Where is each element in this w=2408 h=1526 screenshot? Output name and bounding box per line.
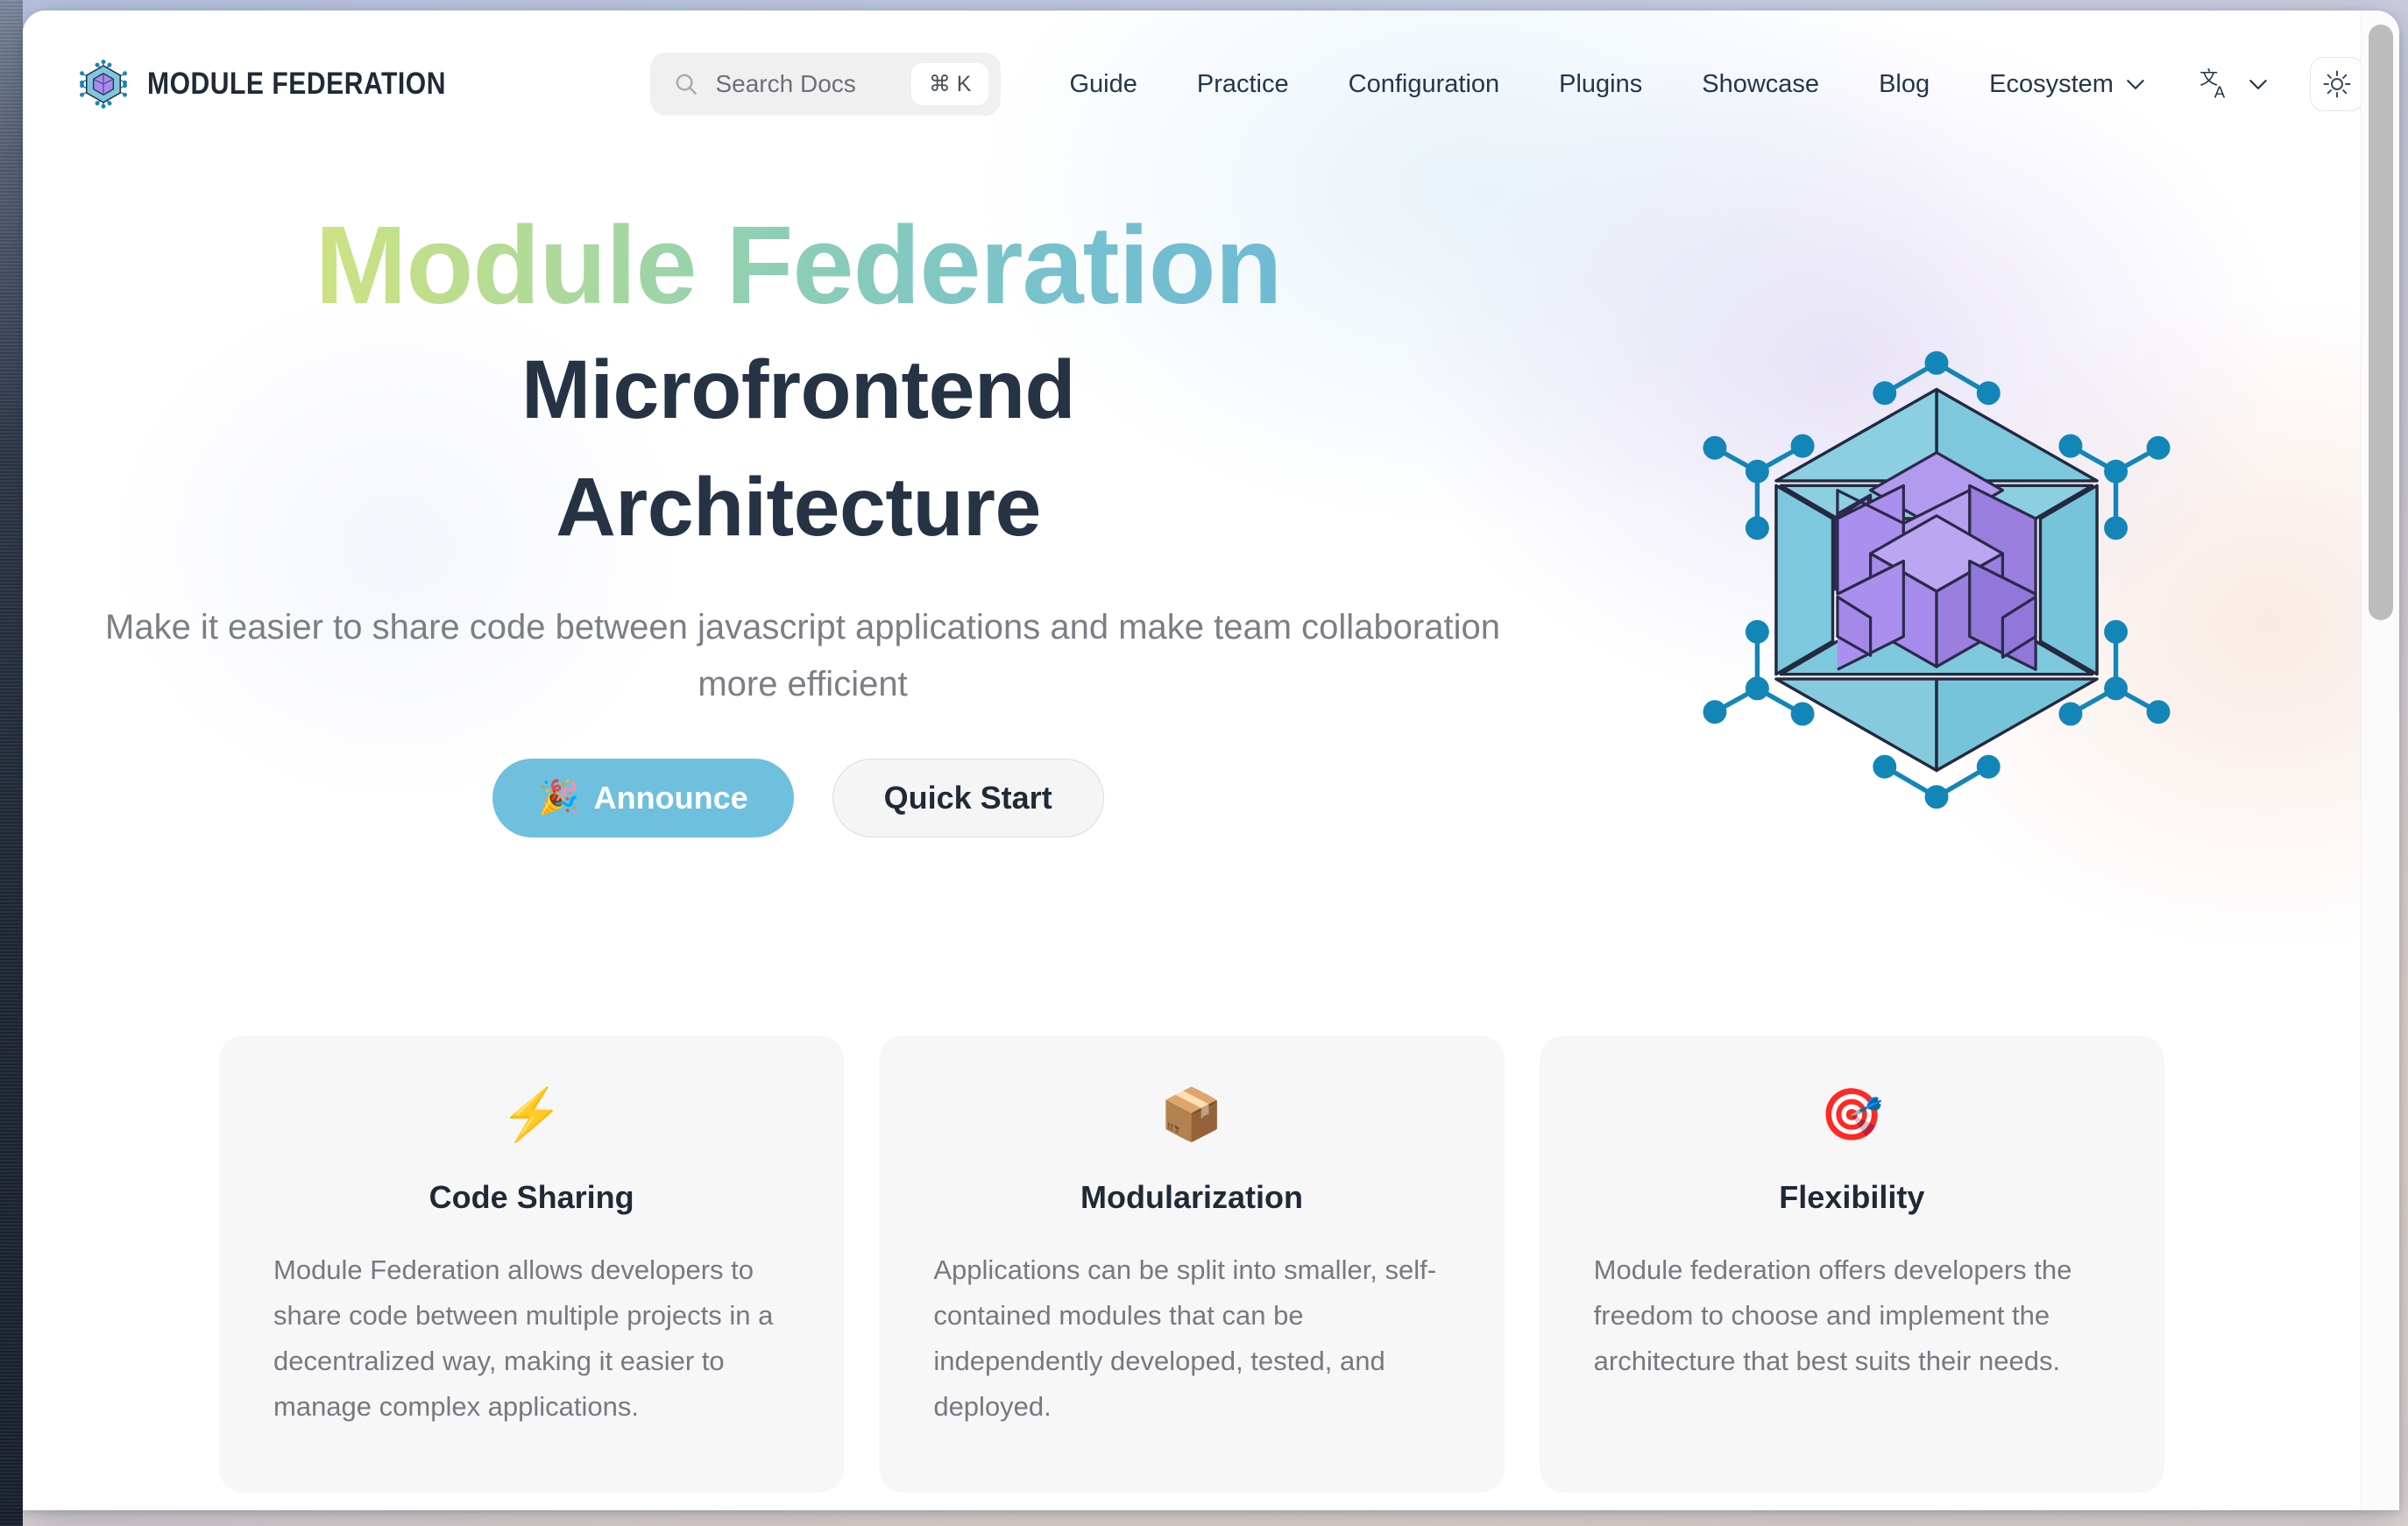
hero-copy: Module Federation Microfrontend Architec… [23, 203, 1512, 837]
brand-logo-link[interactable]: MODULE FEDERATION [79, 60, 494, 109]
search-input[interactable]: Search Docs ⌘ K [650, 53, 1001, 116]
chevron-down-icon [2126, 79, 2145, 90]
search-icon [673, 71, 699, 97]
nav-item-configuration[interactable]: Configuration [1319, 70, 1530, 99]
feature-card-code-sharing[interactable]: ⚡ Code Sharing Module Federation allows … [219, 1035, 844, 1493]
hero-description: Make it easier to share code between jav… [84, 599, 1521, 713]
nav-links: Guide Practice Configuration Plugins Sho… [1039, 70, 2174, 99]
nav-item-blog[interactable]: Blog [1849, 70, 1959, 99]
hero-title: Module Federation [84, 203, 1512, 327]
lightning-bolt-icon: ⚡ [273, 1090, 790, 1141]
nav-item-practice[interactable]: Practice [1167, 70, 1319, 99]
brand-name: MODULE FEDERATION [147, 67, 446, 102]
language-switcher[interactable]: 文 A [2175, 65, 2291, 103]
svg-text:A: A [2214, 82, 2226, 101]
browser-window: MODULE FEDERATION Search Docs ⌘ K Guide … [23, 11, 2399, 1510]
translate-icon: 文 A [2198, 65, 2236, 103]
feature-cards: ⚡ Code Sharing Module Federation allows … [23, 999, 2361, 1493]
party-popper-icon: 🎉 [538, 779, 579, 817]
page-canvas: MODULE FEDERATION Search Docs ⌘ K Guide … [23, 11, 2361, 1510]
search-placeholder: Search Docs [715, 70, 910, 98]
chevron-down-icon [2249, 79, 2268, 90]
hero-section: Module Federation Microfrontend Architec… [23, 158, 2361, 999]
feature-description: Applications can be split into smaller, … [933, 1247, 1449, 1430]
feature-description: Module federation offers developers the … [1594, 1247, 2110, 1384]
hero-actions: 🎉 Announce Quick Start [84, 759, 1512, 837]
hero-subtitle-line-2: Architecture [84, 455, 1512, 562]
nav-item-showcase[interactable]: Showcase [1672, 70, 1849, 99]
nav-item-guide[interactable]: Guide [1039, 70, 1166, 99]
theme-toggle-button[interactable] [2310, 57, 2361, 111]
desktop-background-strip [0, 0, 23, 1526]
feature-title: Modularization [933, 1179, 1449, 1216]
feature-title: Code Sharing [273, 1179, 790, 1216]
scrollbar-thumb[interactable] [2369, 25, 2393, 620]
quick-start-button[interactable]: Quick Start [832, 759, 1104, 837]
nav-item-ecosystem-label: Ecosystem [1989, 70, 2114, 99]
hero-subtitle-line-1: Microfrontend [84, 337, 1512, 444]
target-dart-icon: 🎯 [1594, 1090, 2110, 1141]
search-shortcut-badge: ⌘ K [911, 63, 989, 105]
navbar: MODULE FEDERATION Search Docs ⌘ K Guide … [23, 11, 2361, 158]
nav-item-ecosystem[interactable]: Ecosystem [1959, 70, 2175, 99]
package-box-icon: 📦 [933, 1090, 1449, 1141]
feature-card-flexibility[interactable]: 🎯 Flexibility Module federation offers d… [1540, 1035, 2164, 1493]
nav-item-plugins[interactable]: Plugins [1529, 70, 1672, 99]
nav-tools: 文 A [2175, 57, 2361, 111]
sun-icon [2322, 69, 2352, 99]
feature-description: Module Federation allows developers to s… [273, 1247, 790, 1430]
announce-button[interactable]: 🎉 Announce [492, 759, 793, 837]
hero-illustration [1512, 203, 2361, 825]
module-federation-cube-logo [79, 60, 128, 109]
announce-button-label: Announce [594, 780, 748, 816]
isometric-module-cube-illustration [1691, 335, 2182, 825]
feature-card-modularization[interactable]: 📦 Modularization Applications can be spl… [879, 1035, 1504, 1493]
feature-title: Flexibility [1594, 1179, 2110, 1216]
page-scrollbar[interactable] [2361, 11, 2399, 1510]
